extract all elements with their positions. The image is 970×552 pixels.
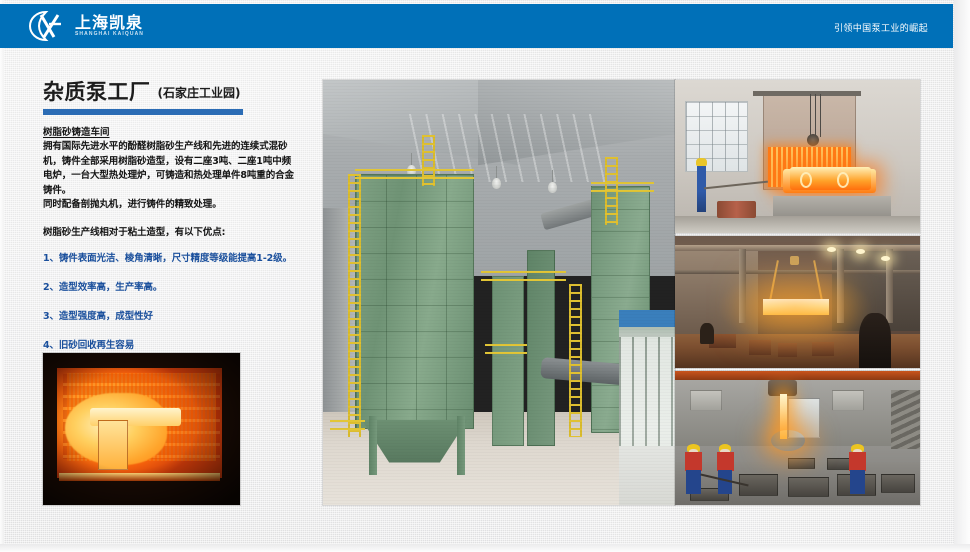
resin-sand-foundry-workshop-photo (323, 80, 675, 505)
body-text-block: 树脂砂铸造车间 拥有国际先进水平的酚醛树脂砂生产线和先进的连续式混砂机，铸件全部… (43, 126, 295, 240)
list-item: 3、造型强度高，成型性好 (43, 310, 301, 324)
worker-torso (685, 452, 702, 470)
list-item: 1、铸件表面光洁、棱角清晰，尺寸精度等级能提高1-2级。 (43, 252, 301, 266)
page-header: 上海凯泉 SHANGHAI KAIQUAN 引领中国泵工业的崛起 (0, 4, 953, 48)
worker-torso (717, 452, 734, 470)
crane-cable (810, 94, 811, 137)
warm-glow-overlay (675, 236, 920, 368)
sand-mold-box (788, 458, 815, 469)
page-title-main: 杂质泵工厂 (43, 80, 151, 104)
advantages-intro: 树脂砂生产线相对于粘土造型，有以下优点: (43, 226, 295, 241)
logo-text-group: 上海凯泉 SHANGHAI KAIQUAN (75, 14, 144, 38)
paragraph-1: 拥有国际先进水平的酚醛树脂砂生产线和先进的连续式混砂机，铸件全部采用树脂砂造型，… (43, 140, 295, 198)
overhead-glow-band (675, 371, 920, 380)
stair-structure (891, 390, 920, 449)
page-title: 杂质泵工厂 (石家庄工业园) (43, 80, 301, 104)
crane-hook (807, 134, 819, 146)
slide-edge-bottom (0, 544, 970, 552)
wall-panel (832, 390, 864, 411)
slide-edge-left (0, 0, 4, 552)
glowing-casting-billet (790, 167, 871, 190)
page-title-sub: (石家庄工业园) (158, 84, 241, 104)
brand-logo[interactable]: 上海凯泉 SHANGHAI KAIQUAN (28, 10, 144, 42)
header-slogan: 引领中国泵工业的崛起 (834, 21, 928, 34)
molten-splash-glow (771, 430, 805, 451)
section-subheading: 树脂砂铸造车间 (43, 126, 295, 140)
left-content-column: 杂质泵工厂 (石家庄工业园) 树脂砂铸造车间 拥有国际先进水平的酚醛树脂砂生产线… (43, 80, 301, 353)
worker-legs (686, 470, 700, 495)
heat-treatment-furnace-photo (675, 80, 920, 233)
title-accent-bar (43, 109, 243, 115)
wall-panel (690, 390, 722, 411)
worker-figure (849, 441, 866, 495)
workshop-floor (675, 216, 920, 233)
crane-lifting-glowing-casting-photo (675, 236, 920, 368)
molten-metal-pouring-photo (675, 371, 920, 505)
photo-grain (323, 80, 675, 505)
worker-legs (850, 470, 864, 495)
paragraph-2: 同时配备剖抛丸机，进行铸件的精致处理。 (43, 198, 295, 213)
worker-torso (849, 452, 866, 470)
logo-english-name: SHANGHAI KAIQUAN (75, 30, 144, 38)
kaiquan-logo-icon (28, 10, 68, 42)
list-item: 4、旧砂回收再生容易 (43, 339, 301, 353)
sand-mold-box (788, 477, 830, 497)
advantages-list: 1、铸件表面光洁、棱角清晰，尺寸精度等级能提高1-2级。 2、造型效率高，生产率… (43, 252, 301, 353)
photo-vignette (43, 353, 240, 505)
sand-mold-box (881, 474, 915, 493)
factory-window (685, 101, 749, 171)
gantry-beam (753, 91, 861, 96)
list-item: 2、造型效率高，生产率高。 (43, 281, 301, 295)
drums-stack (717, 201, 756, 218)
worker-figure (717, 441, 734, 495)
crane-cable (820, 94, 821, 137)
logo-chinese-name: 上海凯泉 (75, 14, 144, 31)
crane-cable (815, 94, 816, 137)
worker-figure (685, 441, 702, 495)
slide-edge-right (954, 0, 970, 552)
furnace-interior-glowing-casting-photo (43, 353, 240, 505)
